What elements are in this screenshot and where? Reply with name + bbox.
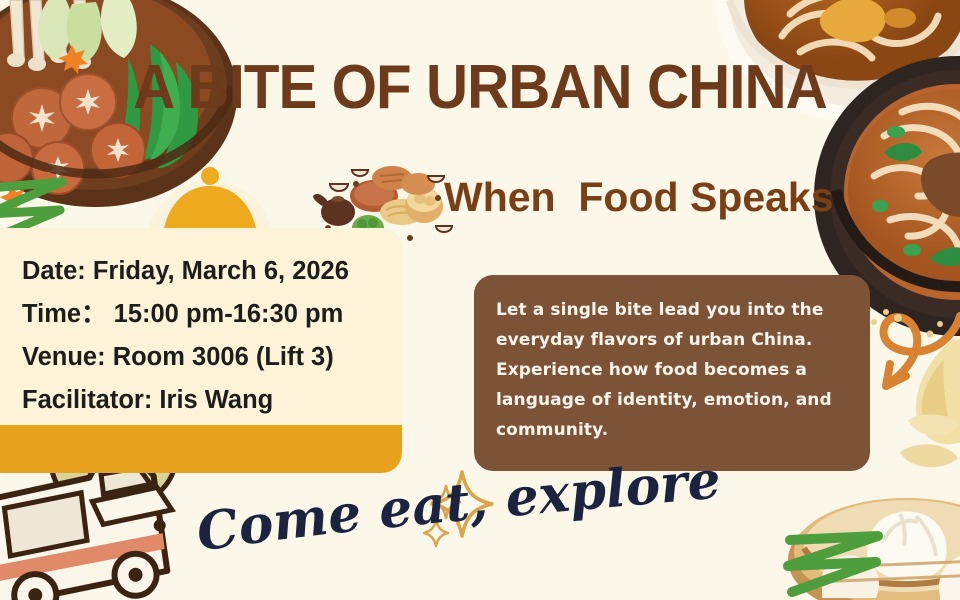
page-title: A BITE OF URBAN CHINA (29, 52, 931, 123)
detail-facilitator: Facilitator: Iris Wang (22, 379, 349, 422)
description-box: Let a single bite lead you into the ever… (474, 275, 870, 471)
detail-date: Date: Friday, March 6, 2026 (22, 250, 349, 293)
event-details-list: Date: Friday, March 6, 2026 Time： 15:00 … (22, 250, 349, 422)
fried-snack-illustration (900, 336, 960, 467)
event-details-card: Date: Friday, March 6, 2026 Time： 15:00 … (0, 228, 402, 473)
food-truck-illustration (0, 454, 183, 600)
poster-subtitle: When Food Speaks (444, 174, 834, 221)
steamer-basket-buns-illustration (788, 498, 960, 600)
detail-time: Time： 15:00 pm-16:30 pm (22, 293, 349, 336)
green-squiggle-right (788, 536, 878, 592)
curly-arrow-icon (871, 309, 960, 386)
description-text: Let a single bite lead you into the ever… (496, 295, 852, 445)
detail-venue: Venue: Room 3006 (Lift 3) (22, 336, 349, 379)
card-accent-band (0, 425, 402, 473)
poster-canvas: A BITE OF URBAN CHINA When Food Speaks D… (0, 0, 960, 600)
tagline-script: Come eat, explore, and connect! (196, 489, 736, 565)
